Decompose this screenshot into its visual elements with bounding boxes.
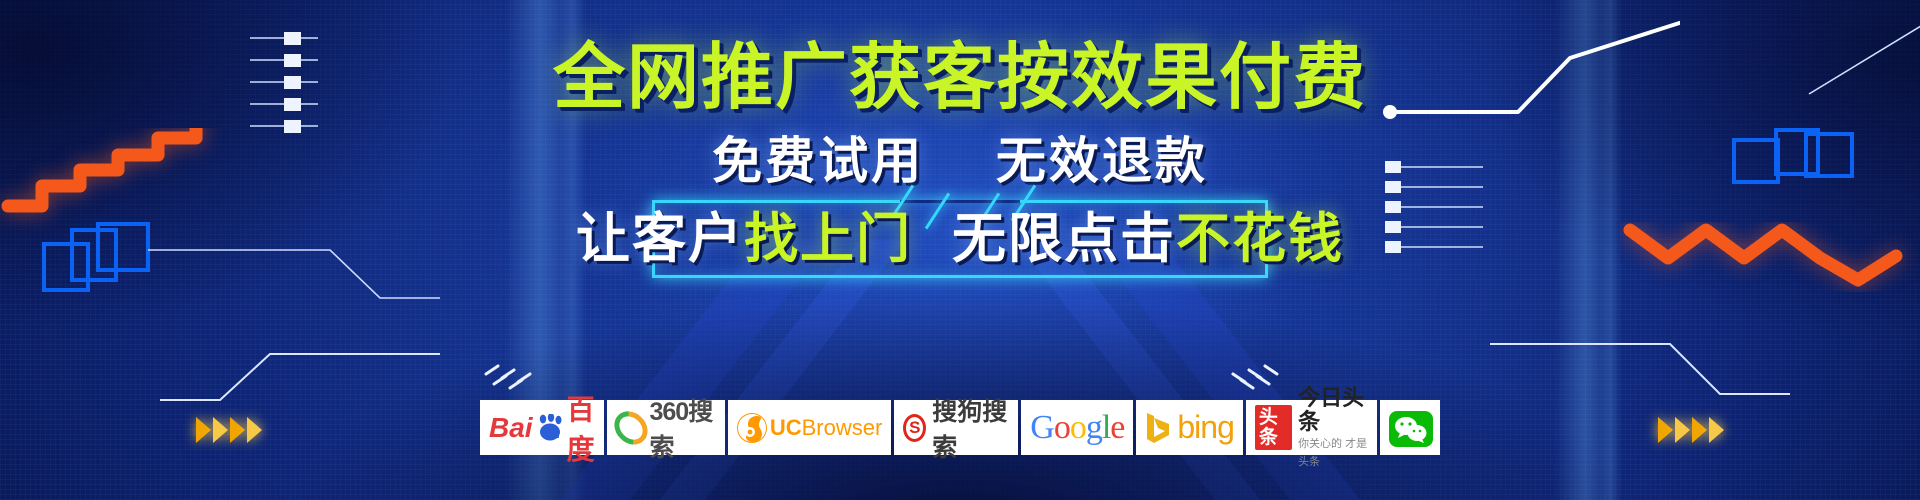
logo-bing[interactable]: bing [1136,400,1243,455]
logo-sogou[interactable]: S 搜狗搜索 [894,400,1018,455]
dash-marks-left [480,352,550,392]
chevron-icon [1658,417,1673,443]
logo-google[interactable]: Google [1021,400,1133,455]
right-connector-lines [1385,155,1495,265]
chevrons-right [1658,417,1724,443]
logo-baidu[interactable]: Bai du 百度 [480,400,604,455]
slogan-part1-green: 找上门 [744,209,912,269]
slogan-part2-green: 不花钱 [1176,209,1344,269]
right-blue-rectangles-icon [1730,128,1860,190]
left-blue-rectangles-icon [40,220,170,300]
logo-wechat[interactable] [1380,400,1440,455]
sogou-s-icon: S [903,414,926,442]
left-orange-zigzag-icon [0,128,260,238]
sogou-label: 搜狗搜索 [932,392,1009,464]
360-label: 360搜索 [650,392,716,464]
chevron-icon [1709,417,1724,443]
toutiao-text-block: 今日头条 你关心的 才是头条 [1298,386,1368,470]
left-connector-lines [240,20,440,150]
baidu-bai-text: Bai [489,412,533,444]
toutiao-badge: 头条 [1255,405,1292,451]
right-bottom-polyline-path [1480,330,1800,410]
right-orange-zigzag-icon [1620,222,1920,292]
subline-left: 免费试用 [712,133,924,189]
uc-browser-text: Browser [802,415,883,441]
baidu-cn-text: 百度 [567,388,595,468]
chevrons-left [196,417,262,443]
baidu-du-text: du [542,425,560,442]
bing-wordmark: bing [1177,409,1234,446]
chevron-icon [213,417,228,443]
slogan-part1-white: 让客户 [576,209,744,269]
chevron-icon [196,417,211,443]
logo-360[interactable]: 360搜索 [607,400,725,455]
toutiao-tagline: 你关心的 才是头条 [1298,438,1367,468]
logo-toutiao[interactable]: 头条 今日头条 你关心的 才是头条 [1246,400,1377,455]
promo-banner: 全网推广获客按效果付费 免费试用 无效退款 让客户找上门无限点击不花钱 Bai [0,0,1920,500]
wechat-icon [1389,411,1431,445]
left-polyline-path [140,240,440,320]
google-wordmark: Google [1030,409,1124,447]
subline: 免费试用 无效退款 [712,136,1208,186]
dash-marks-right [1225,352,1295,392]
bing-icon [1145,411,1171,445]
vertical-glow-right [1555,0,1615,500]
chevron-icon [247,417,262,443]
headline: 全网推广获客按效果付费 [553,42,1367,114]
slogan-part2-white: 无限点击 [952,209,1176,269]
slogan-frame-notch [900,200,1020,203]
vertical-glow-right-thin [1600,0,1622,500]
right-diagonal-line [1805,20,1920,100]
chevron-icon [1692,417,1707,443]
360-ring-icon [607,404,654,451]
logo-uc-browser[interactable]: UC Browser [728,400,891,455]
uc-text: UC [770,415,802,441]
left-bottom-polyline-path [150,340,450,410]
toutiao-title: 今日头条 [1298,385,1364,434]
slogan: 让客户找上门无限点击不花钱 [576,207,1344,271]
partner-logo-strip: Bai du 百度 360搜索 [480,400,1440,455]
subline-right: 无效退款 [996,133,1208,189]
right-white-rising-path [1380,0,1680,130]
uc-squirrel-icon [737,413,767,443]
chevron-icon [1675,417,1690,443]
chevron-icon [230,417,245,443]
baidu-paw-icon: du [535,414,565,442]
